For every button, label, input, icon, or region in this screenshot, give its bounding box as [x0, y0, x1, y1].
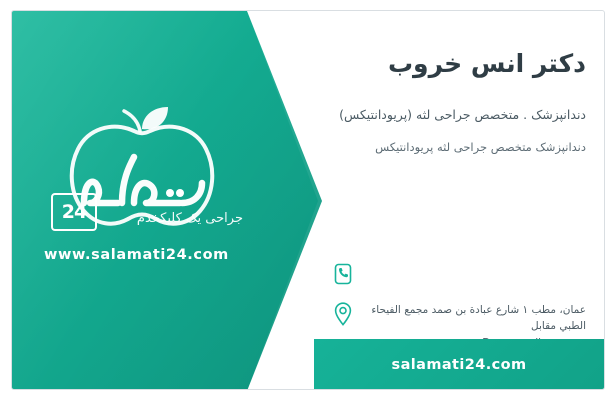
- logo-tagline: جراحی یک کلیکخدم: [137, 211, 243, 226]
- contact-row-phone: [330, 259, 586, 289]
- business-card: 24 جراحی یک کلیکخدم www.salamati24.com د…: [11, 10, 605, 390]
- doctor-name: دكتر انس خروب: [331, 49, 586, 79]
- card-content: دكتر انس خروب دندانپزشک . متخصص جراحی لث…: [314, 11, 604, 390]
- logo-badge-24: 24: [51, 193, 97, 231]
- logo-website-url: www.salamati24.com: [44, 247, 229, 263]
- footer-website: salamati24.com: [392, 357, 527, 373]
- phone-icon: [330, 259, 356, 289]
- brand-logo: 24 جراحی یک کلیکخدم www.salamati24.com: [30, 107, 245, 282]
- footer-bar: salamati24.com: [314, 339, 604, 390]
- screenshot-canvas: 24 جراحی یک کلیکخدم www.salamati24.com د…: [0, 0, 616, 400]
- doctor-specialty-arabic: دندانپزشک . متخصص جراحی لثه (پریودانتیکس…: [331, 106, 586, 124]
- doctor-specialty-persian: دندانپزشک متخصص جراحی لثه پریودانتیکس: [331, 139, 586, 155]
- phone-text: [366, 259, 586, 262]
- address-line-1: عمان، مطب ١ شارع عبادة بن صمد مجمع الفيح…: [371, 304, 586, 332]
- location-pin-icon: [330, 299, 356, 329]
